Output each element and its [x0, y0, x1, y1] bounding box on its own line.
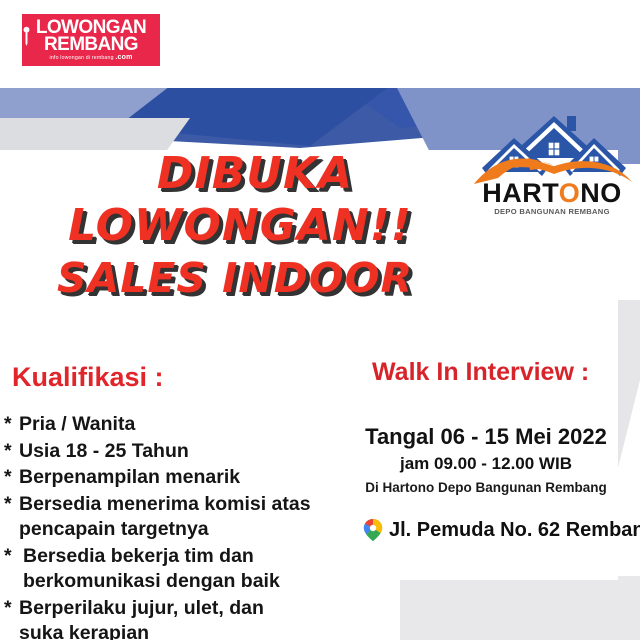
site-logo-tagline-text: info lowongan di rembang: [49, 55, 113, 61]
headline-line-3: SALES INDOOR: [0, 258, 470, 299]
qualification-text: Berperilaku jujur, ulet, dan suka kerapi…: [19, 596, 364, 640]
qualification-item: * Bersedia menerima komisi atas pencapai…: [4, 492, 364, 543]
qualification-text: Pria / Wanita: [19, 412, 364, 438]
qualification-text-line: pencapain targetnya: [19, 518, 209, 540]
site-logo-tagline: info lowongan di rembang .com: [49, 54, 132, 62]
bullet-star: *: [4, 596, 19, 622]
qualification-item: * Bersedia bekerja tim dan berkomunikasi…: [4, 544, 364, 595]
interview-address: Jl. Pemuda No. 62 Rembang: [389, 519, 640, 542]
headline-line-1: DIBUKA: [40, 152, 470, 196]
site-logo[interactable]: LOWONGAN REMBANG info lowongan di remban…: [22, 14, 160, 66]
qualifications-title: Kualifikasi :: [12, 362, 164, 393]
site-logo-domain: .com: [115, 54, 132, 61]
qualification-item: * Usia 18 - 25 Tahun: [4, 439, 364, 465]
qualification-text: Usia 18 - 25 Tahun: [19, 439, 364, 465]
qualification-text-line: Bersedia menerima komisi atas: [19, 493, 311, 515]
qualification-text-line: Berperilaku jujur, ulet, dan: [19, 597, 264, 619]
qualification-text: Bersedia menerima komisi atas pencapain …: [19, 492, 364, 543]
company-logo: HARTONO DEPO BANGUNAN REMBANG: [468, 112, 636, 224]
walk-in-interview-title: Walk In Interview :: [372, 358, 589, 387]
qualification-text-line: suka kerapian: [19, 622, 149, 640]
bullet-star: *: [4, 412, 19, 438]
qualification-text: Berpenampilan menarik: [19, 465, 364, 491]
interview-time: jam 09.00 - 12.00 WIB: [352, 454, 620, 474]
pin-icon: [23, 26, 30, 46]
company-name-part1: HART: [482, 178, 559, 208]
qualification-item: * Pria / Wanita: [4, 412, 364, 438]
bullet-star: *: [4, 465, 19, 491]
interview-address-row: Jl. Pemuda No. 62 Rembang: [362, 518, 640, 542]
map-pin-icon: [362, 518, 384, 542]
interview-place: Di Hartono Depo Bangunan Rembang: [344, 480, 628, 495]
company-name-o: O: [559, 178, 581, 208]
headline-block: DIBUKA LOWONGAN!! SALES INDOOR: [0, 152, 470, 299]
qualification-text: Bersedia bekerja tim dan berkomunikasi d…: [19, 544, 364, 595]
company-name: HARTONO: [468, 178, 636, 209]
qualifications-list: * Pria / Wanita * Usia 18 - 25 Tahun * B…: [4, 412, 364, 640]
qualification-text-line: Bersedia bekerja tim dan: [23, 545, 254, 567]
qualification-item: * Berperilaku jujur, ulet, dan suka kera…: [4, 596, 364, 640]
site-logo-line2: REMBANG: [44, 36, 138, 54]
bullet-star: *: [4, 439, 19, 465]
job-vacancy-poster: LOWONGAN REMBANG info lowongan di remban…: [0, 0, 640, 640]
site-logo-line1: LOWONGAN: [36, 19, 146, 36]
company-name-part2: NO: [580, 178, 622, 208]
headline-line-2: LOWONGAN!!: [10, 204, 470, 248]
qualification-item: * Berpenampilan menarik: [4, 465, 364, 491]
qualification-text-line: berkomunikasi dengan baik: [23, 570, 280, 592]
company-tagline: DEPO BANGUNAN REMBANG: [468, 207, 636, 216]
bullet-star: *: [4, 544, 19, 570]
bullet-star: *: [4, 492, 19, 518]
interview-date: Tangal 06 - 15 Mei 2022: [352, 424, 620, 450]
